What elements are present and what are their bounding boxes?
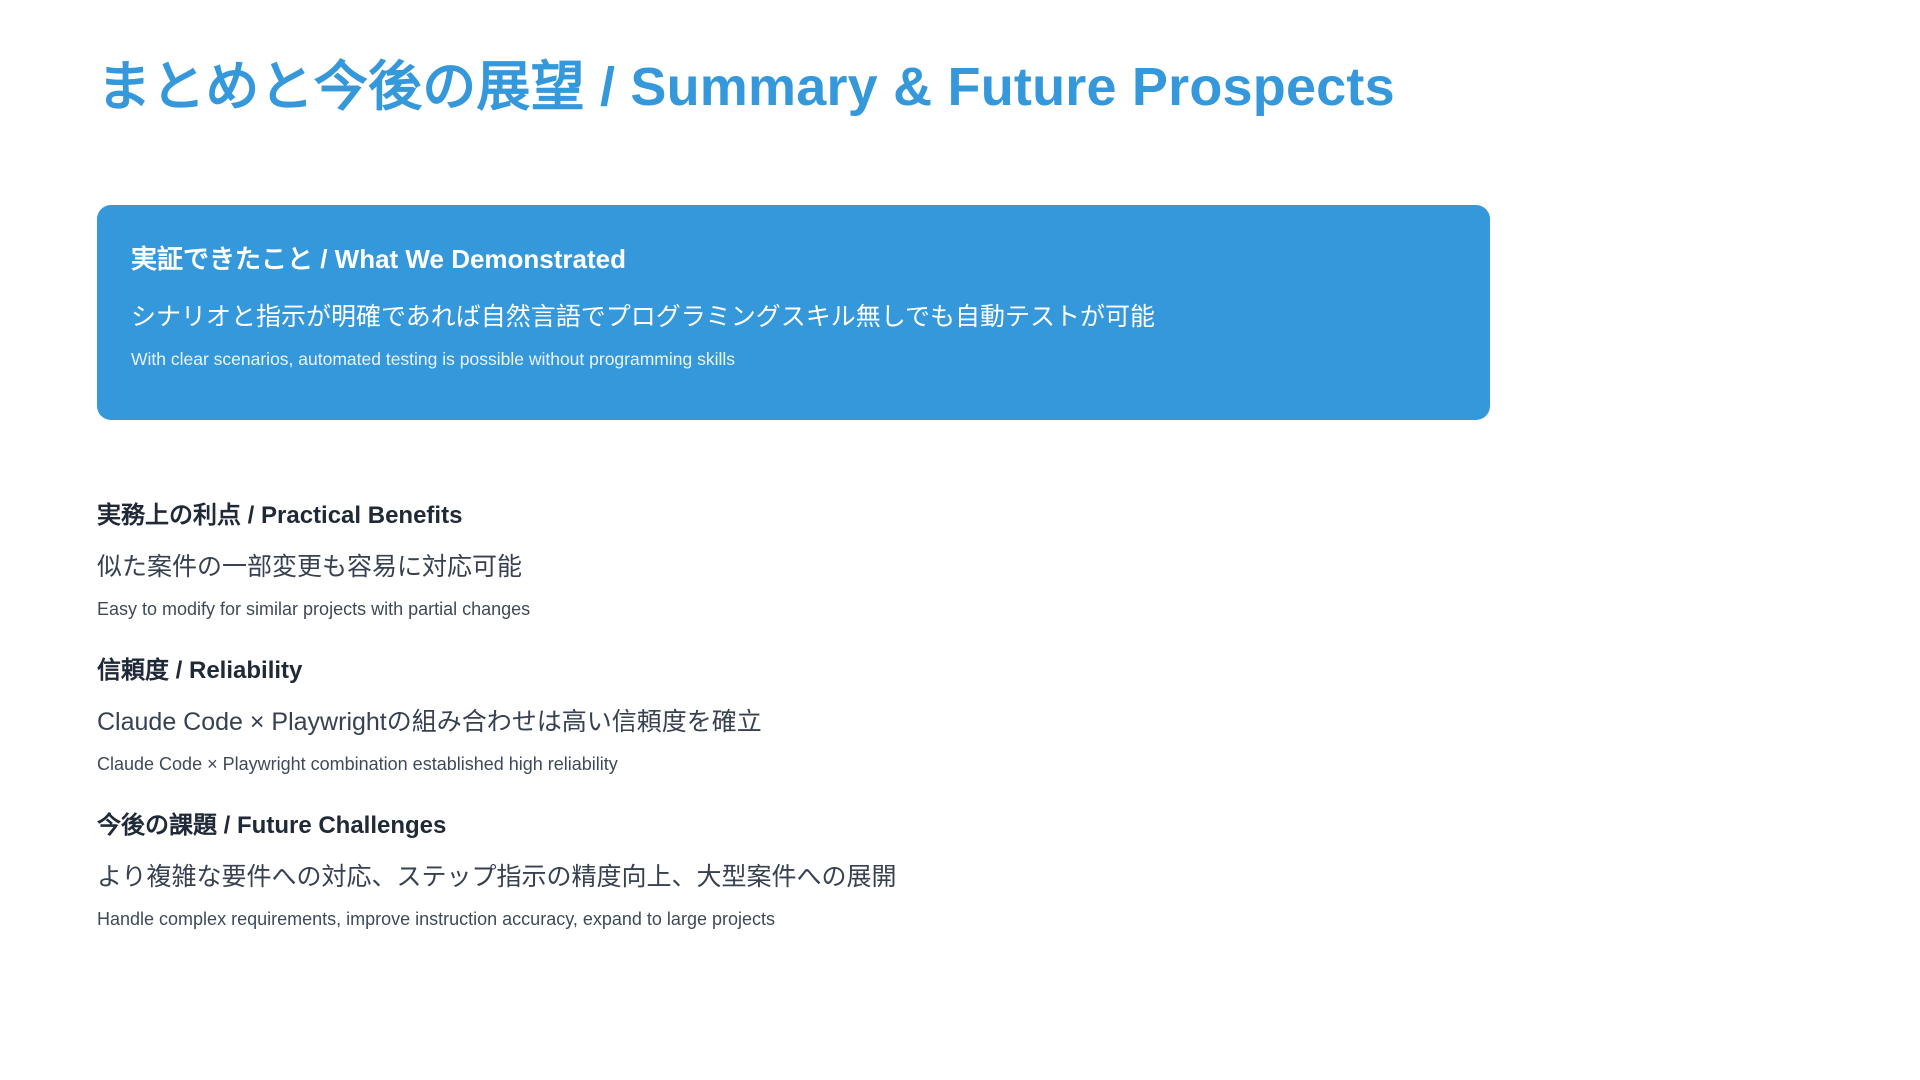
section-heading: 実務上の利点 / Practical Benefits xyxy=(97,500,1497,531)
page-title: まとめと今後の展望 / Summary & Future Prospects xyxy=(97,54,1395,122)
highlight-card-sub-text: With clear scenarios, automated testing … xyxy=(131,348,1456,372)
section-sub-text: Claude Code × Playwright combination est… xyxy=(97,752,1497,776)
section-sub-text: Easy to modify for similar projects with… xyxy=(97,597,1497,621)
section-main-text: Claude Code × Playwrightの組み合わせは高い信頼度を確立 xyxy=(97,706,1497,739)
section-heading: 今後の課題 / Future Challenges xyxy=(97,810,1497,841)
section-heading: 信頼度 / Reliability xyxy=(97,655,1497,686)
highlight-card-main-text: シナリオと指示が明確であれば自然言語でプログラミングスキル無しでも自動テストが可… xyxy=(131,301,1456,335)
section-practical-benefits: 実務上の利点 / Practical Benefits 似た案件の一部変更も容易… xyxy=(97,500,1497,621)
section-sub-text: Handle complex requirements, improve ins… xyxy=(97,907,1497,931)
presentation-slide: まとめと今後の展望 / Summary & Future Prospects 実… xyxy=(0,0,1920,1080)
section-reliability: 信頼度 / Reliability Claude Code × Playwrig… xyxy=(97,655,1497,776)
section-main-text: より複雑な要件への対応、ステップ指示の精度向上、大型案件への展開 xyxy=(97,861,1497,894)
highlight-card: 実証できたこと / What We Demonstrated シナリオと指示が明… xyxy=(97,205,1490,420)
section-future-challenges: 今後の課題 / Future Challenges より複雑な要件への対応、ステ… xyxy=(97,810,1497,931)
highlight-card-heading: 実証できたこと / What We Demonstrated xyxy=(131,243,1456,277)
section-main-text: 似た案件の一部変更も容易に対応可能 xyxy=(97,551,1497,584)
content-sections: 実務上の利点 / Practical Benefits 似た案件の一部変更も容易… xyxy=(97,500,1497,931)
